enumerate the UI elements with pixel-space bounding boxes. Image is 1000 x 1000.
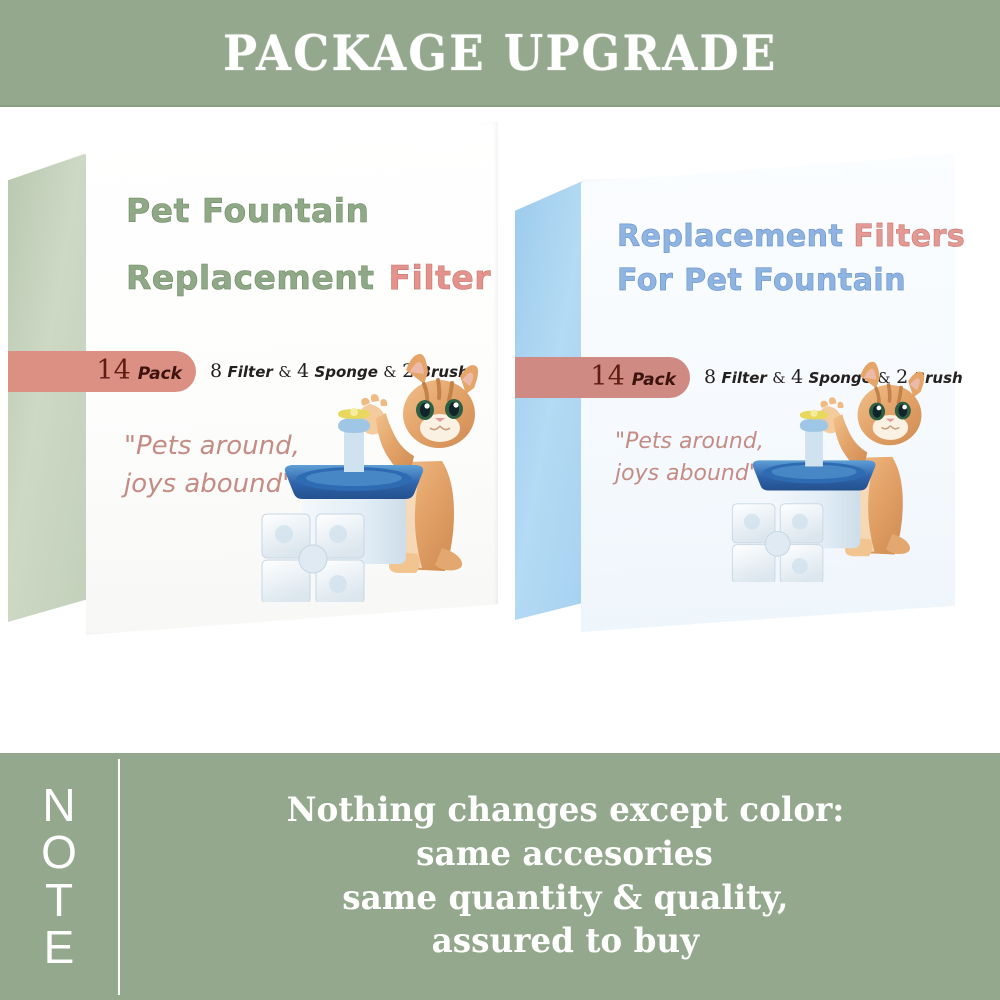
box-title-line-2: ReplacementFilter bbox=[126, 261, 496, 294]
note-letter-n: N bbox=[42, 782, 75, 829]
box-title-line-2-main: Replacement bbox=[126, 258, 374, 297]
pack-item-qty-1-old: 8 bbox=[704, 366, 716, 388]
box-face-old: ReplacementFilters For Pet Fountain 14 P… bbox=[515, 154, 955, 632]
box-title-line-1-main: Replacement bbox=[617, 219, 843, 254]
cat-and-fountain-illustration-old bbox=[727, 360, 949, 582]
note-letter-o: O bbox=[41, 829, 77, 876]
note-line-4: assured to buy bbox=[431, 920, 699, 964]
pack-count: 14 bbox=[96, 357, 130, 384]
product-box-latest: Pet Fountain ReplacementFilter 14 Pack 8… bbox=[8, 122, 498, 634]
note-divider bbox=[118, 759, 120, 995]
box-title-line-2-accent: Filter bbox=[388, 258, 491, 297]
box-face-latest: Pet Fountain ReplacementFilter 14 Pack 8… bbox=[8, 122, 498, 634]
note-footer: N O T E Nothing changes except color: sa… bbox=[0, 753, 1000, 1000]
box-title-line-1-old: ReplacementFilters bbox=[617, 222, 947, 252]
cat-and-fountain-illustration bbox=[256, 352, 506, 602]
pack-badge-latest: 14 Pack bbox=[8, 351, 196, 392]
note-vertical-label: N O T E bbox=[41, 782, 77, 972]
note-line-3: same quantity & quality, bbox=[342, 877, 788, 921]
note-letter-e: E bbox=[44, 924, 75, 971]
box-title-old: ReplacementFilters For Pet Fountain bbox=[617, 222, 947, 296]
pack-unit: Pack bbox=[138, 366, 182, 383]
page-title: PACKAGE UPGRADE bbox=[223, 24, 777, 82]
pack-badge-old: 14 Pack bbox=[515, 357, 690, 398]
cat-fountain-svg-old bbox=[727, 360, 949, 582]
pack-item-qty-1: 8 bbox=[210, 360, 222, 382]
box-title-line-1-accent: Filters bbox=[853, 219, 965, 254]
product-box-old: ReplacementFilters For Pet Fountain 14 P… bbox=[515, 154, 955, 632]
box-title-line-1: Pet Fountain bbox=[126, 194, 496, 227]
box-title-line-2-old: For Pet Fountain bbox=[617, 266, 947, 296]
box-title-latest: Pet Fountain ReplacementFilter bbox=[126, 194, 496, 294]
note-line-1: Nothing changes except color: bbox=[286, 789, 844, 833]
note-body: Nothing changes except color: same acces… bbox=[130, 753, 1000, 1000]
pack-count-old: 14 bbox=[590, 363, 624, 390]
note-letter-t: T bbox=[45, 877, 73, 924]
package-upgrade-infographic: PACKAGE UPGRADE Pet Fountain Replacement… bbox=[0, 0, 1000, 1000]
product-comparison-stage: Pet Fountain ReplacementFilter 14 Pack 8… bbox=[0, 107, 1000, 753]
cat-fountain-svg bbox=[256, 352, 506, 602]
note-line-2: same accesories bbox=[417, 833, 714, 877]
header-banner: PACKAGE UPGRADE bbox=[0, 0, 1000, 107]
note-rail: N O T E bbox=[0, 753, 118, 1000]
pack-unit-old: Pack bbox=[632, 372, 676, 389]
